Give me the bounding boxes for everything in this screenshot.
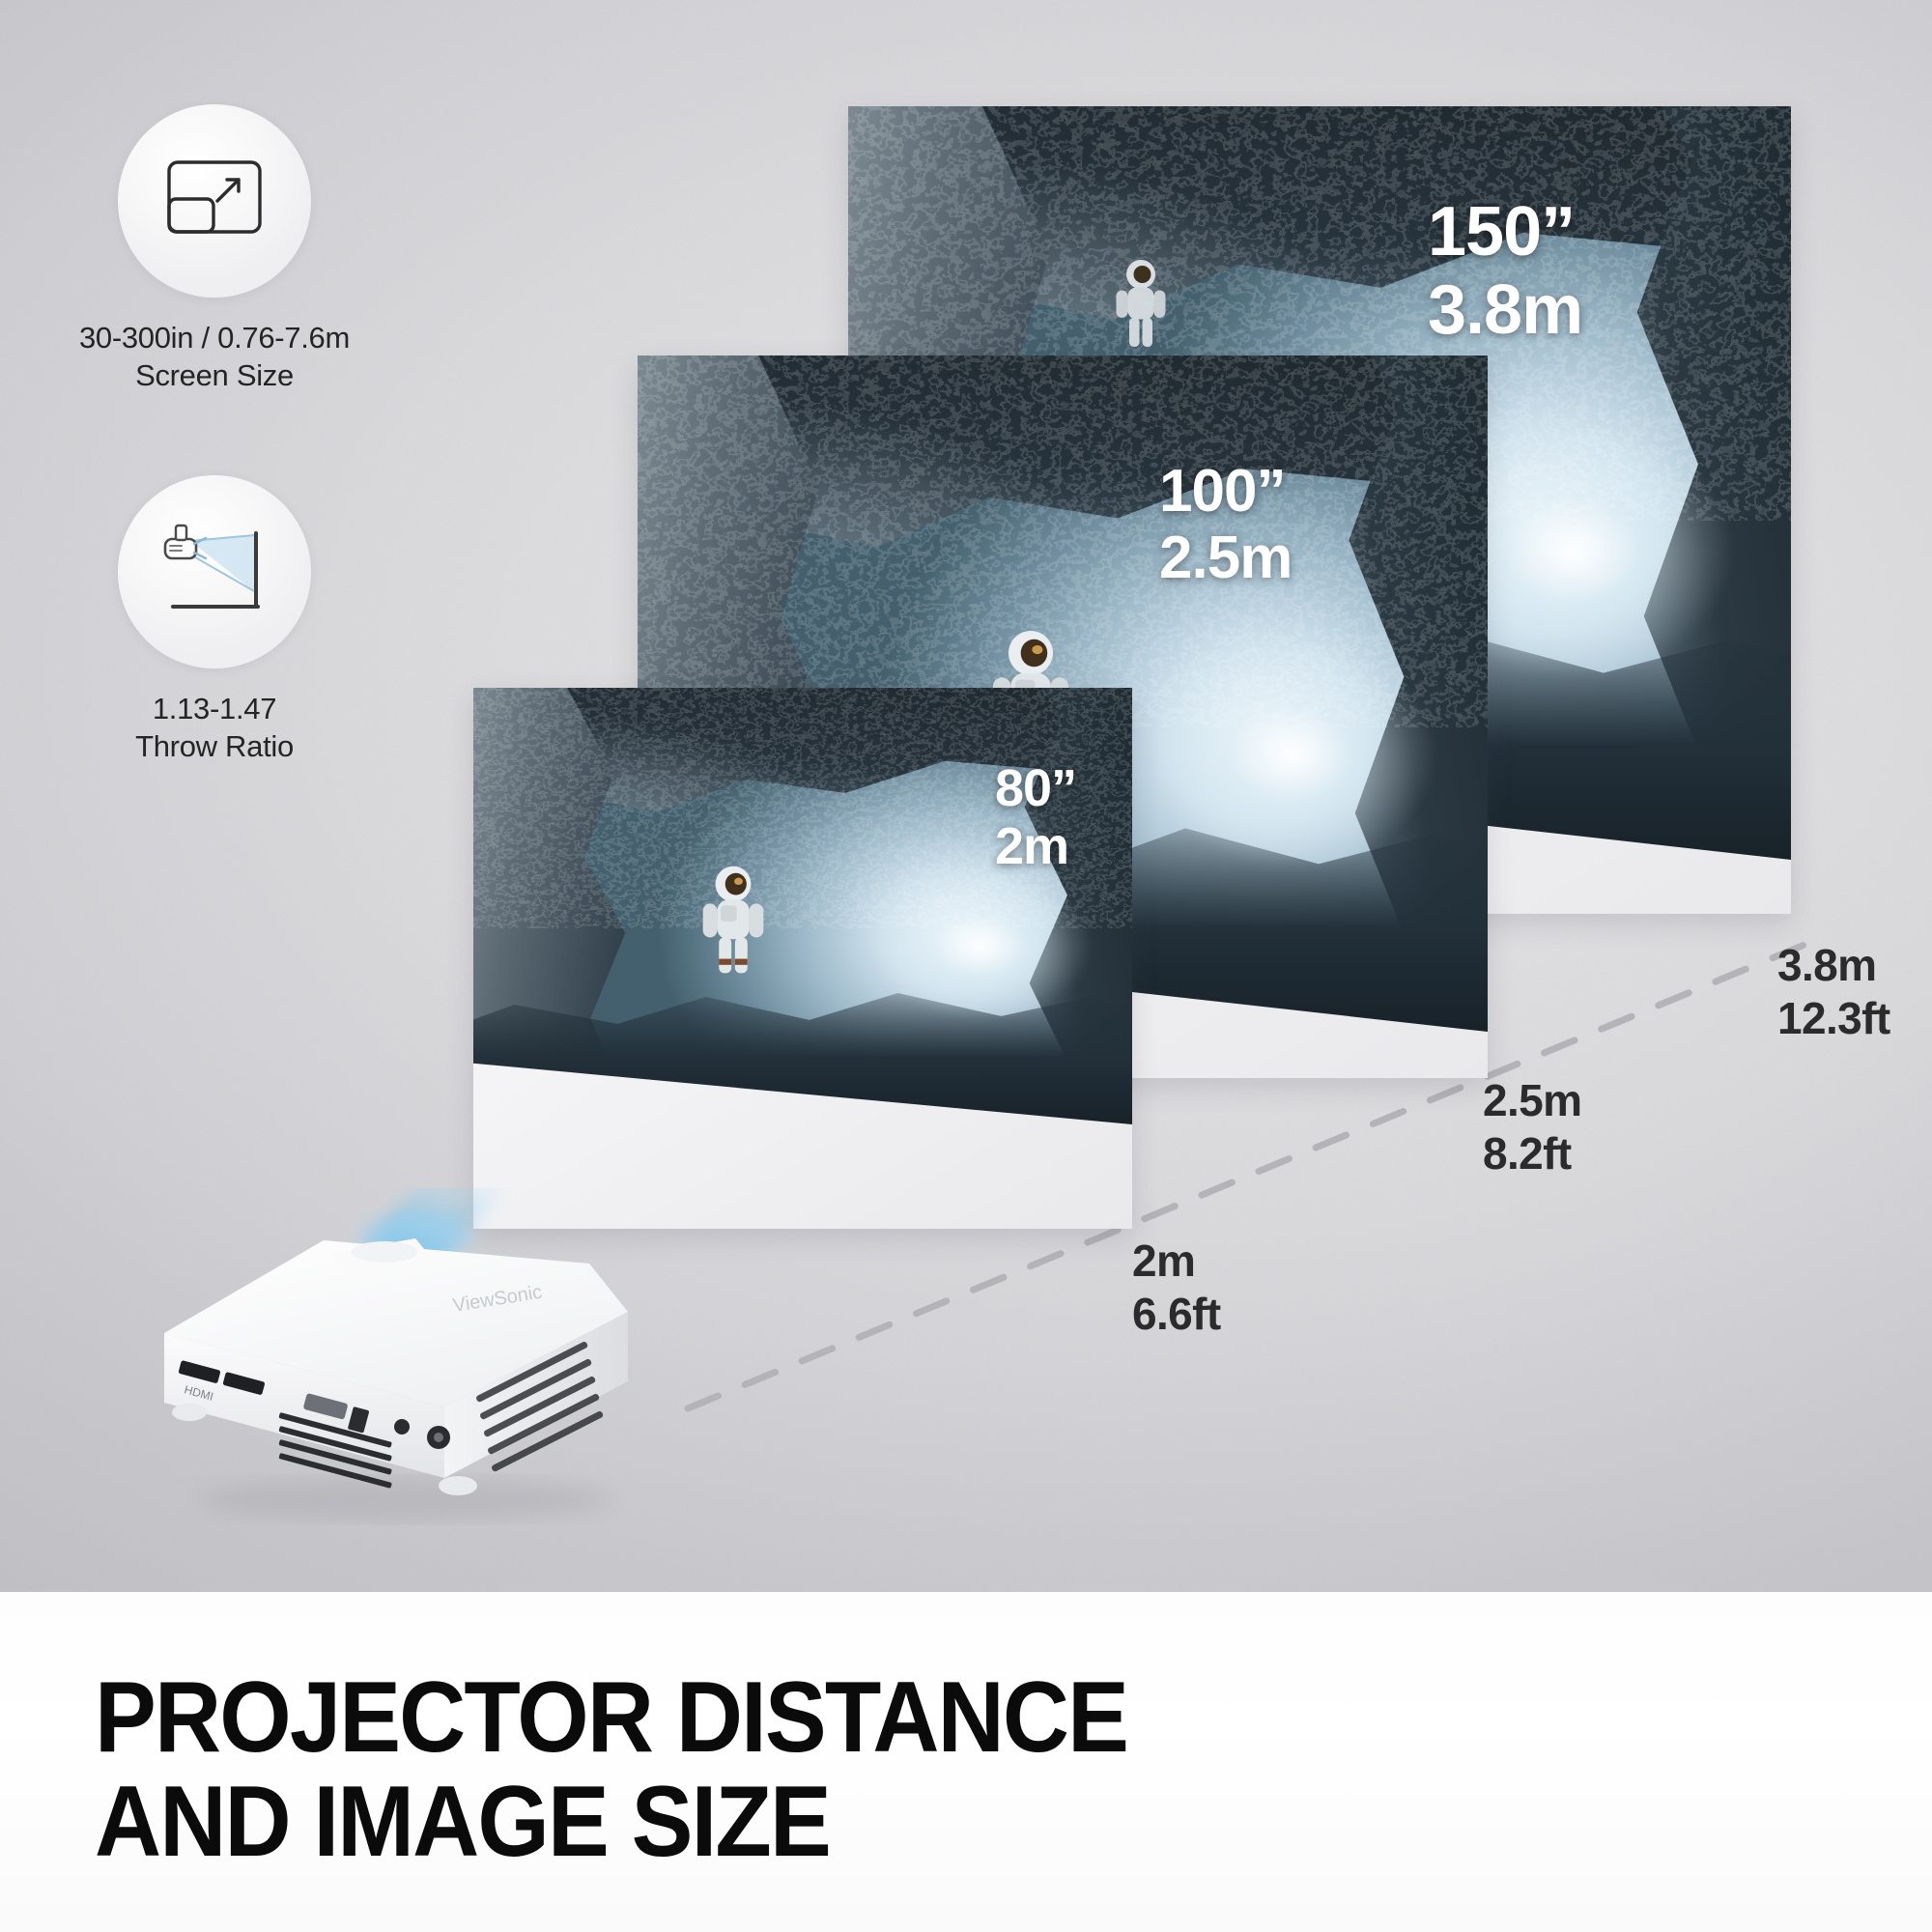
- screen-size-label: Screen Size: [50, 356, 379, 394]
- rock-speckle-texture: [473, 688, 1132, 1124]
- cave-scene-80: [473, 688, 1132, 1124]
- headline-line-1: PROJECTOR DISTANCE: [95, 1662, 1127, 1774]
- distance-150-feet: 12.3ft: [1777, 992, 1890, 1045]
- screen-100-diagonal: 100”: [1159, 458, 1285, 525]
- distance-label-150: 3.8m 12.3ft: [1777, 939, 1890, 1045]
- screen-80-width: 2m: [995, 817, 1076, 875]
- projector-device[interactable]: HDMI ViewSonic: [126, 1188, 667, 1536]
- headline-line-2: AND IMAGE SIZE: [95, 1770, 1127, 1874]
- throw-ratio-badge: [118, 475, 311, 668]
- throw-ratio-text: 1.13-1.47 Throw Ratio: [50, 690, 379, 765]
- throw-ratio-value: 1.13-1.47: [153, 692, 276, 725]
- screen-size-text: 30-300in / 0.76-7.6m Screen Size: [50, 319, 379, 394]
- throw-ratio-icon: [152, 518, 277, 627]
- astronaut-figure: [1112, 257, 1170, 350]
- screen-80-artwork: [473, 688, 1132, 1124]
- screen-80-size-label: 80” 2m: [995, 759, 1076, 876]
- screen-80-diagonal: 80”: [995, 759, 1076, 817]
- throw-ratio-label: Throw Ratio: [50, 727, 379, 765]
- astronaut-figure: [697, 863, 769, 977]
- feature-throw-ratio: 1.13-1.47 Throw Ratio: [50, 475, 379, 765]
- screen-100-size-label: 100” 2.5m: [1159, 458, 1292, 592]
- infographic-stage: 150” 3.8m: [0, 0, 1932, 1932]
- screen-80[interactable]: 80” 2m: [473, 688, 1132, 1229]
- screen-size-icon: [157, 155, 271, 248]
- screen-150-size-label: 150” 3.8m: [1428, 193, 1582, 349]
- distance-150-meters: 3.8m: [1777, 940, 1876, 990]
- page-title: PROJECTOR DISTANCE AND IMAGE SIZE: [95, 1665, 1127, 1874]
- screen-150-width: 3.8m: [1428, 271, 1582, 350]
- distance-label-80: 2m 6.6ft: [1132, 1235, 1221, 1341]
- distance-100-feet: 8.2ft: [1483, 1127, 1581, 1180]
- screen-size-badge: [118, 104, 311, 298]
- distance-label-100: 2.5m 8.2ft: [1483, 1074, 1581, 1180]
- screen-150-diagonal: 150”: [1428, 193, 1575, 270]
- screen-100-width: 2.5m: [1159, 525, 1292, 591]
- screen-size-value: 30-300in / 0.76-7.6m: [79, 321, 350, 355]
- distance-100-meters: 2.5m: [1483, 1075, 1581, 1125]
- distance-80-meters: 2m: [1132, 1236, 1195, 1286]
- feature-screen-size: 30-300in / 0.76-7.6m Screen Size: [50, 104, 379, 394]
- distance-80-feet: 6.6ft: [1132, 1288, 1221, 1341]
